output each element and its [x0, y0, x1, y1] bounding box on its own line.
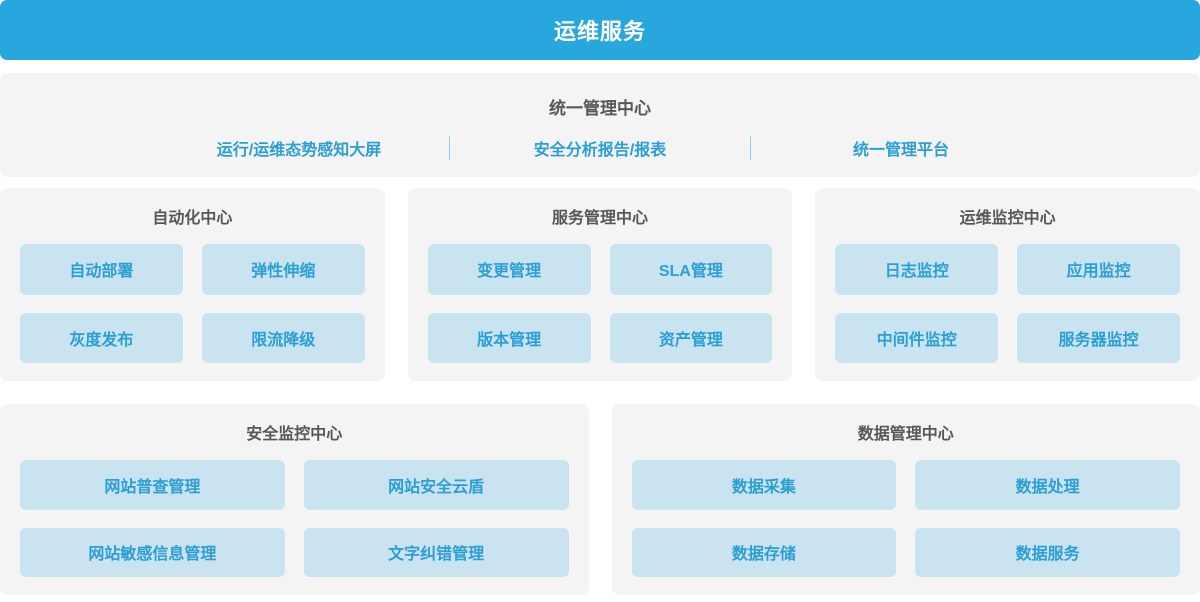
tile-grid: 变更管理 SLA管理 版本管理 资产管理	[428, 244, 773, 363]
tile-website-census-management[interactable]: 网站普查管理	[20, 460, 285, 510]
tile-sla-management[interactable]: SLA管理	[610, 244, 773, 295]
panel-automation-center: 自动化中心 自动部署 弹性伸缩 灰度发布 限流降级	[0, 188, 385, 381]
tile-website-security-cloud-shield[interactable]: 网站安全云盾	[304, 460, 569, 510]
tile-data-processing[interactable]: 数据处理	[915, 460, 1180, 510]
tile-data-storage[interactable]: 数据存储	[632, 528, 897, 578]
panel-title: 数据管理中心	[632, 420, 1181, 444]
tile-middleware-monitoring[interactable]: 中间件监控	[835, 313, 998, 364]
panel-row-top: 自动化中心 自动部署 弹性伸缩 灰度发布 限流降级 服务管理中心 变更管理 SL…	[0, 188, 1200, 381]
panel-title: 运维监控中心	[835, 204, 1180, 228]
tile-data-service[interactable]: 数据服务	[915, 528, 1180, 578]
tile-log-monitoring[interactable]: 日志监控	[835, 244, 998, 295]
tile-grid: 数据采集 数据处理 数据存储 数据服务	[632, 460, 1181, 577]
tile-application-monitoring[interactable]: 应用监控	[1017, 244, 1180, 295]
panel-title: 自动化中心	[20, 204, 365, 228]
tile-version-management[interactable]: 版本管理	[428, 313, 591, 364]
tile-website-sensitive-info-management[interactable]: 网站敏感信息管理	[20, 528, 285, 578]
panel-row-bottom: 安全监控中心 网站普查管理 网站安全云盾 网站敏感信息管理 文字纠错管理 数据管…	[0, 404, 1200, 595]
mgmt-link-security-report[interactable]: 安全分析报告/报表	[450, 136, 750, 160]
tile-grid: 自动部署 弹性伸缩 灰度发布 限流降级	[20, 244, 365, 363]
panel-data-management-center: 数据管理中心 数据采集 数据处理 数据存储 数据服务	[612, 404, 1200, 595]
unified-management-center-links: 运行/运维态势感知大屏 安全分析报告/报表 统一管理平台	[0, 136, 1200, 160]
panel-title: 服务管理中心	[428, 204, 773, 228]
mgmt-link-situation-dashboard[interactable]: 运行/运维态势感知大屏	[149, 136, 449, 160]
tile-data-collection[interactable]: 数据采集	[632, 460, 897, 510]
banner-title: 运维服务	[554, 14, 646, 46]
unified-management-center-panel: 统一管理中心 运行/运维态势感知大屏 安全分析报告/报表 统一管理平台	[0, 73, 1200, 177]
panel-service-management-center: 服务管理中心 变更管理 SLA管理 版本管理 资产管理	[408, 188, 793, 381]
tile-change-management[interactable]: 变更管理	[428, 244, 591, 295]
tile-elastic-scaling[interactable]: 弹性伸缩	[202, 244, 365, 295]
tile-server-monitoring[interactable]: 服务器监控	[1017, 313, 1180, 364]
tile-grid: 网站普查管理 网站安全云盾 网站敏感信息管理 文字纠错管理	[20, 460, 569, 577]
tile-rate-limit-degrade[interactable]: 限流降级	[202, 313, 365, 364]
tile-auto-deploy[interactable]: 自动部署	[20, 244, 183, 295]
tile-grid: 日志监控 应用监控 中间件监控 服务器监控	[835, 244, 1180, 363]
tile-gray-release[interactable]: 灰度发布	[20, 313, 183, 364]
panel-title: 安全监控中心	[20, 420, 569, 444]
banner-ops-service: 运维服务	[0, 0, 1200, 60]
panel-security-monitoring-center: 安全监控中心 网站普查管理 网站安全云盾 网站敏感信息管理 文字纠错管理	[0, 404, 589, 595]
tile-asset-management[interactable]: 资产管理	[610, 313, 773, 364]
panel-ops-monitoring-center: 运维监控中心 日志监控 应用监控 中间件监控 服务器监控	[815, 188, 1200, 381]
mgmt-link-unified-platform[interactable]: 统一管理平台	[751, 136, 1051, 160]
tile-text-proofreading-management[interactable]: 文字纠错管理	[304, 528, 569, 578]
unified-management-center-title: 统一管理中心	[549, 94, 651, 119]
architecture-diagram: 运维服务 统一管理中心 运行/运维态势感知大屏 安全分析报告/报表 统一管理平台…	[0, 0, 1200, 602]
